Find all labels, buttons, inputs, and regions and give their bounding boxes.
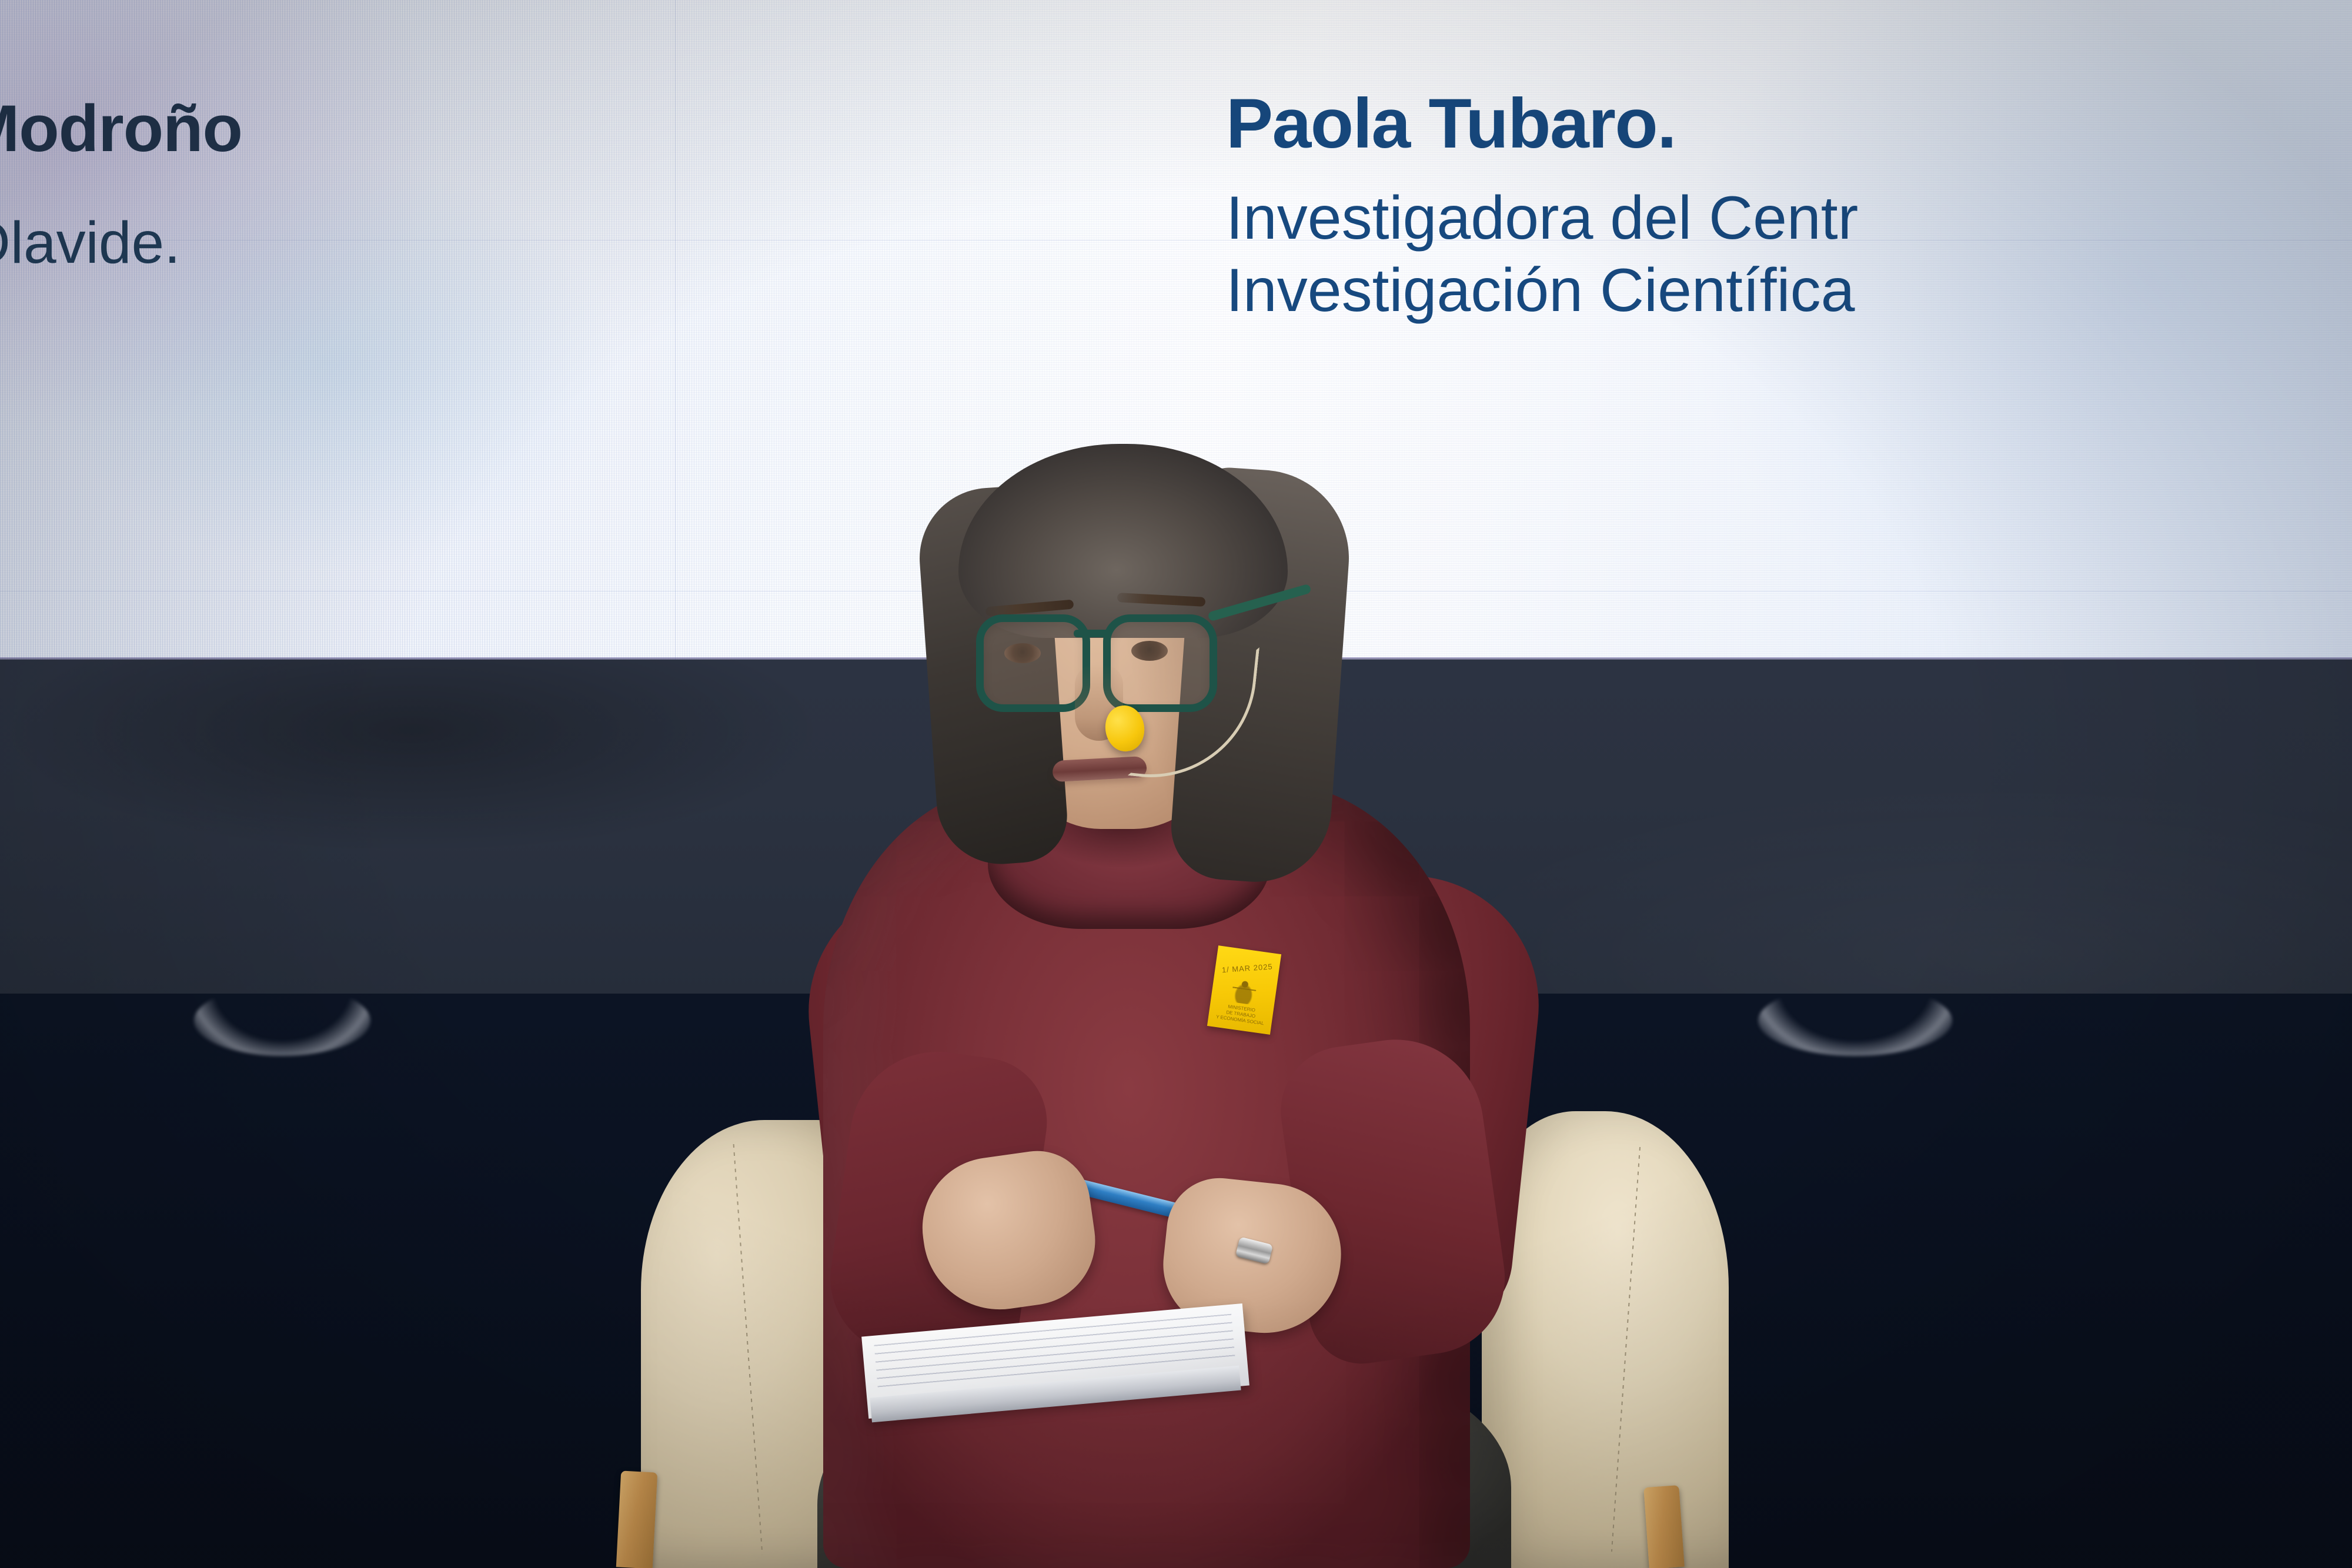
conference-stage-photo: Modroño Olavide. Paola Tubaro. Investiga… bbox=[0, 0, 2352, 1568]
visitor-badge-organization: MINISTERIO DE TRABAJO Y ECONOMÍA SOCIAL bbox=[1211, 1002, 1271, 1028]
eyeglass-lens-left bbox=[976, 614, 1090, 712]
visitor-badge-sticker: 1/ MAR 2025 MINISTERIO DE TRABAJO Y ECON… bbox=[1207, 945, 1281, 1035]
visitor-badge-date: 1/ MAR 2025 bbox=[1219, 962, 1276, 975]
spanish-coat-of-arms-icon bbox=[1231, 978, 1257, 1005]
seated-speaker: 1/ MAR 2025 MINISTERIO DE TRABAJO Y ECON… bbox=[0, 0, 2352, 1568]
eyeglass-bridge bbox=[1074, 630, 1110, 637]
